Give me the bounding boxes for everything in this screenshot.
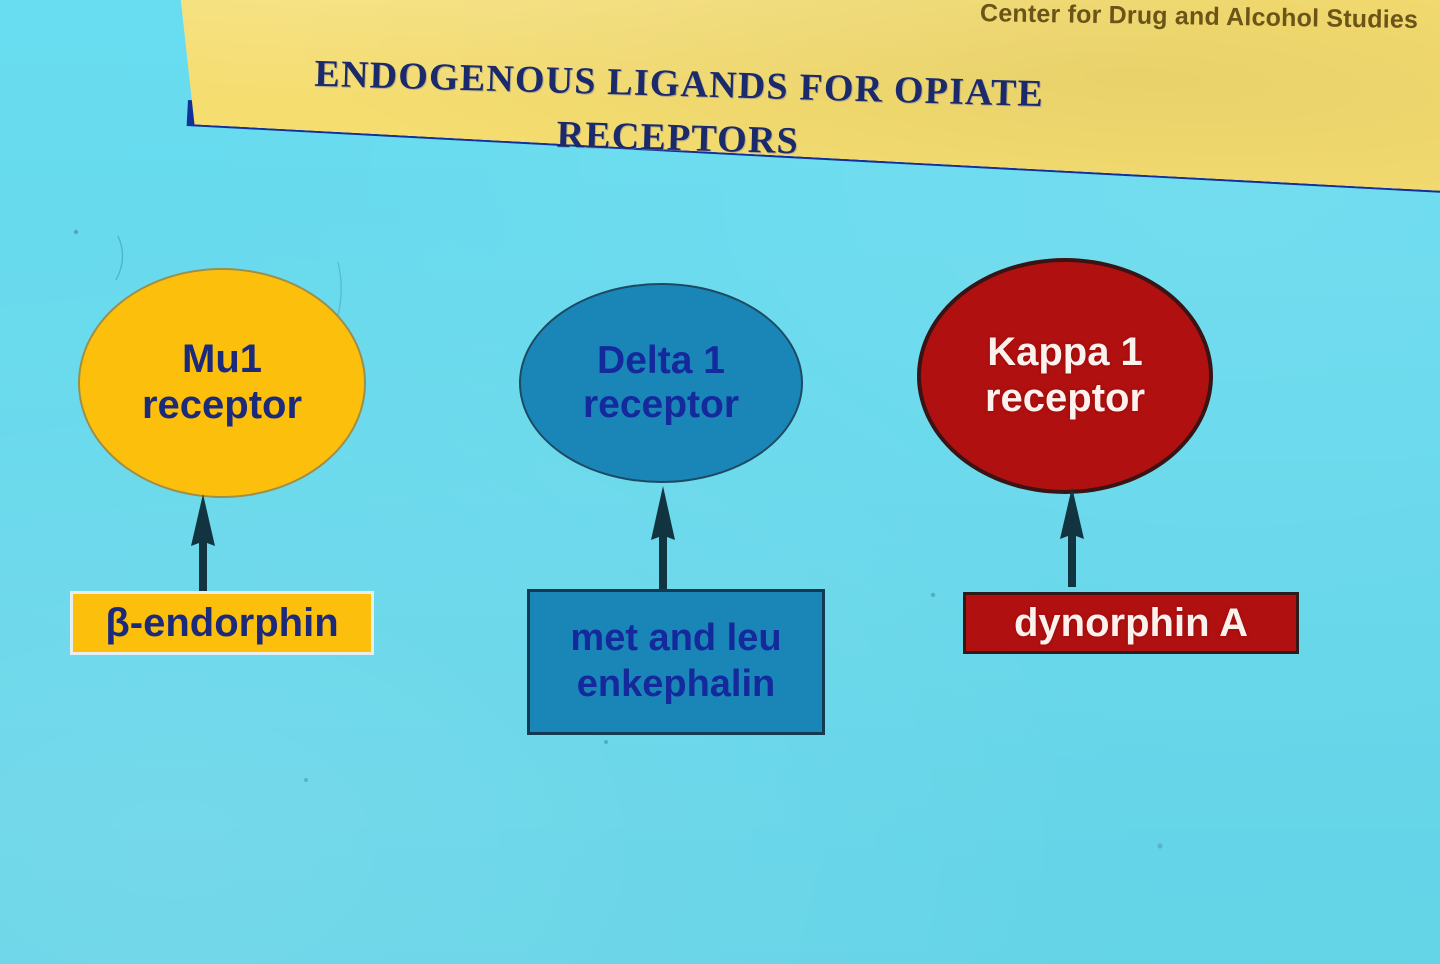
receptor-kappa1-label: Kappa 1 receptor: [985, 330, 1145, 421]
arrow-up-icon-kappa1: [1055, 487, 1089, 587]
receptor-node-mu1: Mu1 receptor: [78, 268, 366, 498]
receptor-kappa1-label-line-2: receptor: [985, 376, 1145, 422]
ligand-enkephalin-label-line-2: enkephalin: [570, 662, 781, 708]
receptor-mu1-label-line-1: Mu1: [142, 337, 302, 383]
page-title: ENDOGENOUS LIGANDS FOR OPIATE RECEPTORS: [197, 45, 1160, 180]
receptor-kappa1-label-line-1: Kappa 1: [985, 330, 1145, 376]
arrow-up-icon-delta1: [646, 486, 680, 590]
receptor-mu1-label-line-2: receptor: [142, 383, 302, 429]
ligand-beta-endorphin-label: β-endorphin: [105, 599, 338, 647]
ligand-dynorphin-a-label: dynorphin A: [1014, 599, 1248, 647]
receptor-delta1-label-line-1: Delta 1: [583, 339, 739, 383]
receptor-mu1-label: Mu1 receptor: [142, 337, 302, 428]
slide-canvas: Center for Drug and Alcohol Studies ENDO…: [0, 0, 1440, 964]
ligand-box-enkephalin: met and leu enkephalin: [527, 589, 825, 735]
banner-text-layer: Center for Drug and Alcohol Studies ENDO…: [0, 0, 1440, 230]
ligand-enkephalin-label-line-1: met and leu: [570, 616, 781, 662]
ligand-box-dynorphin-a: dynorphin A: [963, 592, 1299, 654]
ligand-box-beta-endorphin: β-endorphin: [70, 591, 374, 655]
receptor-delta1-label: Delta 1 receptor: [583, 339, 739, 428]
arrow-up-icon-mu1: [186, 494, 220, 594]
receptor-node-delta1: Delta 1 receptor: [519, 283, 803, 483]
receptor-delta1-label-line-2: receptor: [583, 383, 739, 427]
ligand-enkephalin-label: met and leu enkephalin: [570, 616, 781, 707]
organization-label: Center for Drug and Alcohol Studies: [980, 0, 1418, 35]
receptor-node-kappa1: Kappa 1 receptor: [917, 258, 1213, 494]
